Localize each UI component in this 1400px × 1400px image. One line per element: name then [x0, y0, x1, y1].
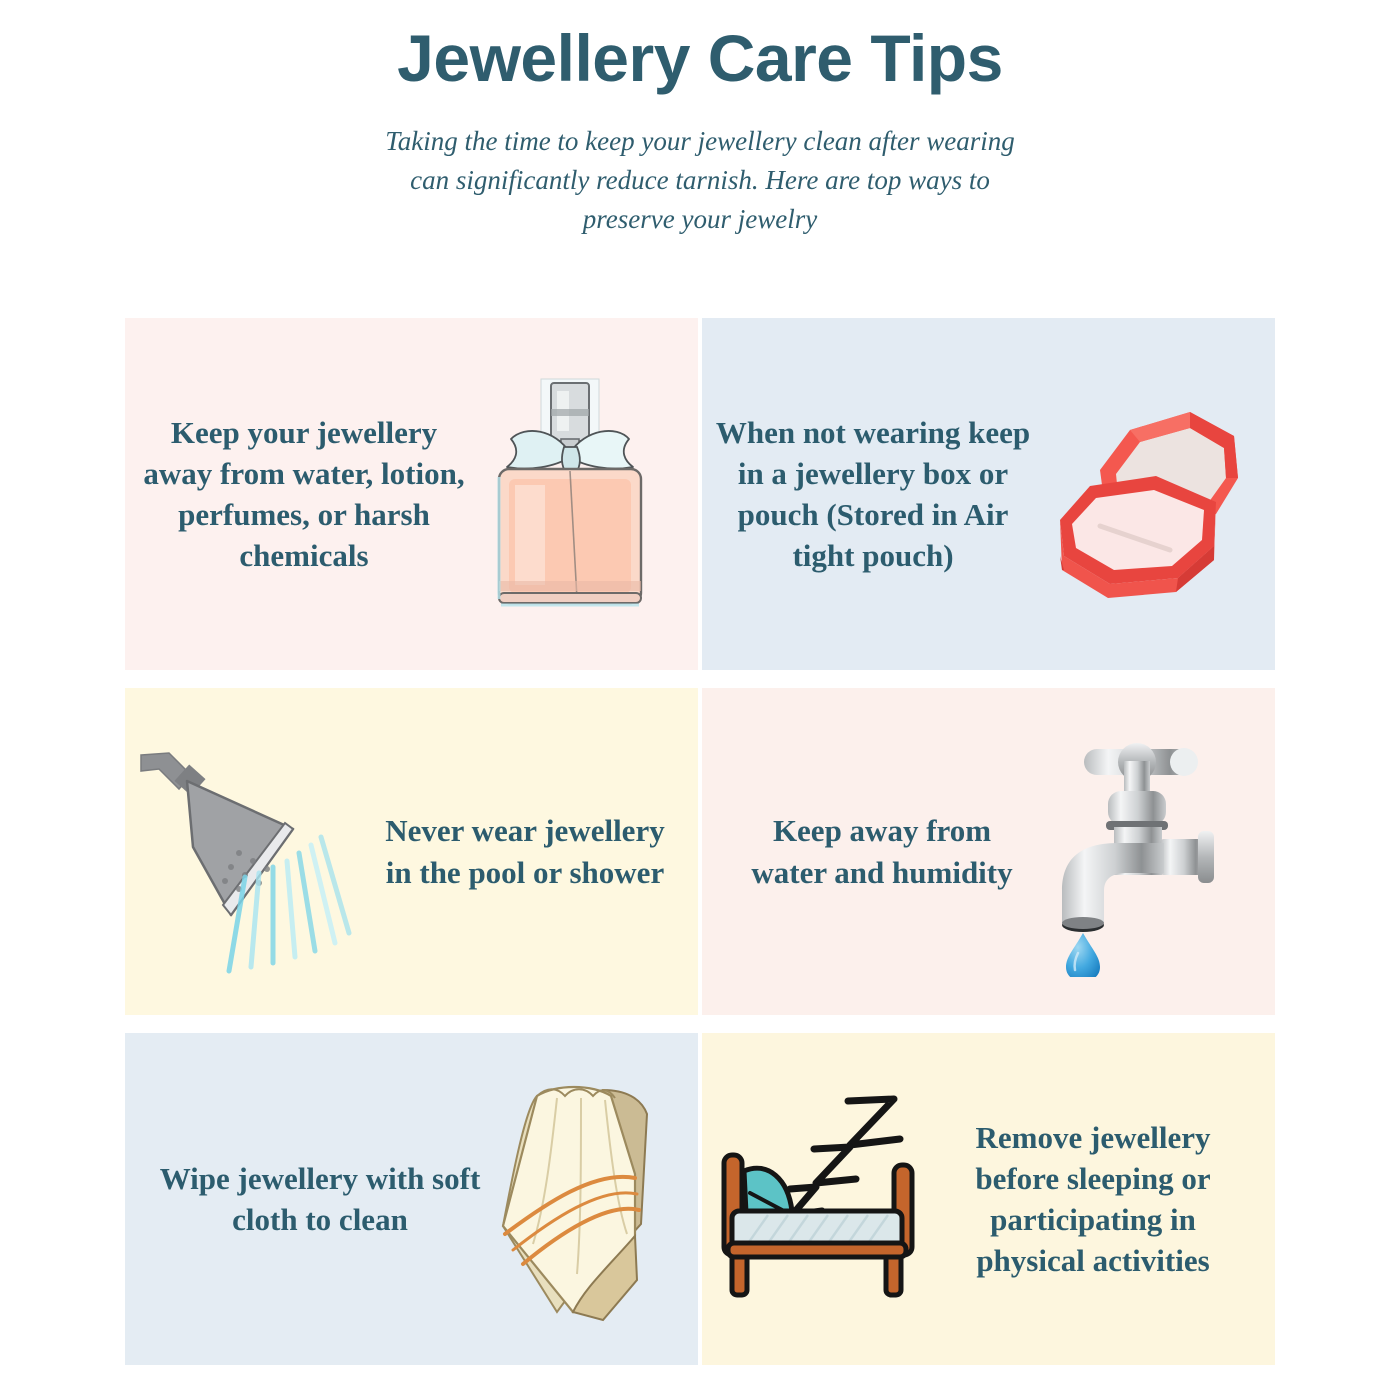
infographic-page: Jewellery Care Tips Taking the time to k…: [0, 0, 1400, 1400]
bed-zzz-icon: [708, 1087, 943, 1312]
tip-card-jewellery-box: When not wearing keep in a jewellery box…: [702, 318, 1275, 670]
tips-grid: Keep your jewellery away from water, lot…: [125, 318, 1275, 1365]
tip-card-cloth: Wipe jewellery with soft cloth to clean: [125, 1033, 698, 1365]
soft-cloth-icon: [485, 1074, 670, 1324]
tip-text-cloth: Wipe jewellery with soft cloth to clean: [155, 1158, 485, 1240]
page-subtitle: Taking the time to keep your jewellery c…: [380, 122, 1020, 239]
perfume-bottle-icon: [469, 367, 669, 622]
tip-text-perfume: Keep your jewellery away from water, lot…: [139, 412, 469, 577]
tip-text-jewellery-box: When not wearing keep in a jewellery box…: [708, 412, 1038, 577]
tip-card-sleep: Remove jewellery before sleeping or part…: [702, 1033, 1275, 1365]
faucet-drip-icon: [1032, 727, 1242, 977]
page-title: Jewellery Care Tips: [0, 22, 1400, 96]
tip-text-sleep: Remove jewellery before sleeping or part…: [943, 1117, 1243, 1282]
shower-head-icon: [135, 727, 370, 977]
tip-card-humidity: Keep away from water and humidity: [702, 688, 1275, 1015]
tip-text-humidity: Keep away from water and humidity: [732, 810, 1032, 892]
ring-box-icon: [1038, 374, 1258, 614]
header: Jewellery Care Tips Taking the time to k…: [0, 0, 1400, 239]
tip-card-shower: Never wear jewellery in the pool or show…: [125, 688, 698, 1015]
tip-card-perfume: Keep your jewellery away from water, lot…: [125, 318, 698, 670]
tip-text-shower: Never wear jewellery in the pool or show…: [370, 810, 680, 892]
